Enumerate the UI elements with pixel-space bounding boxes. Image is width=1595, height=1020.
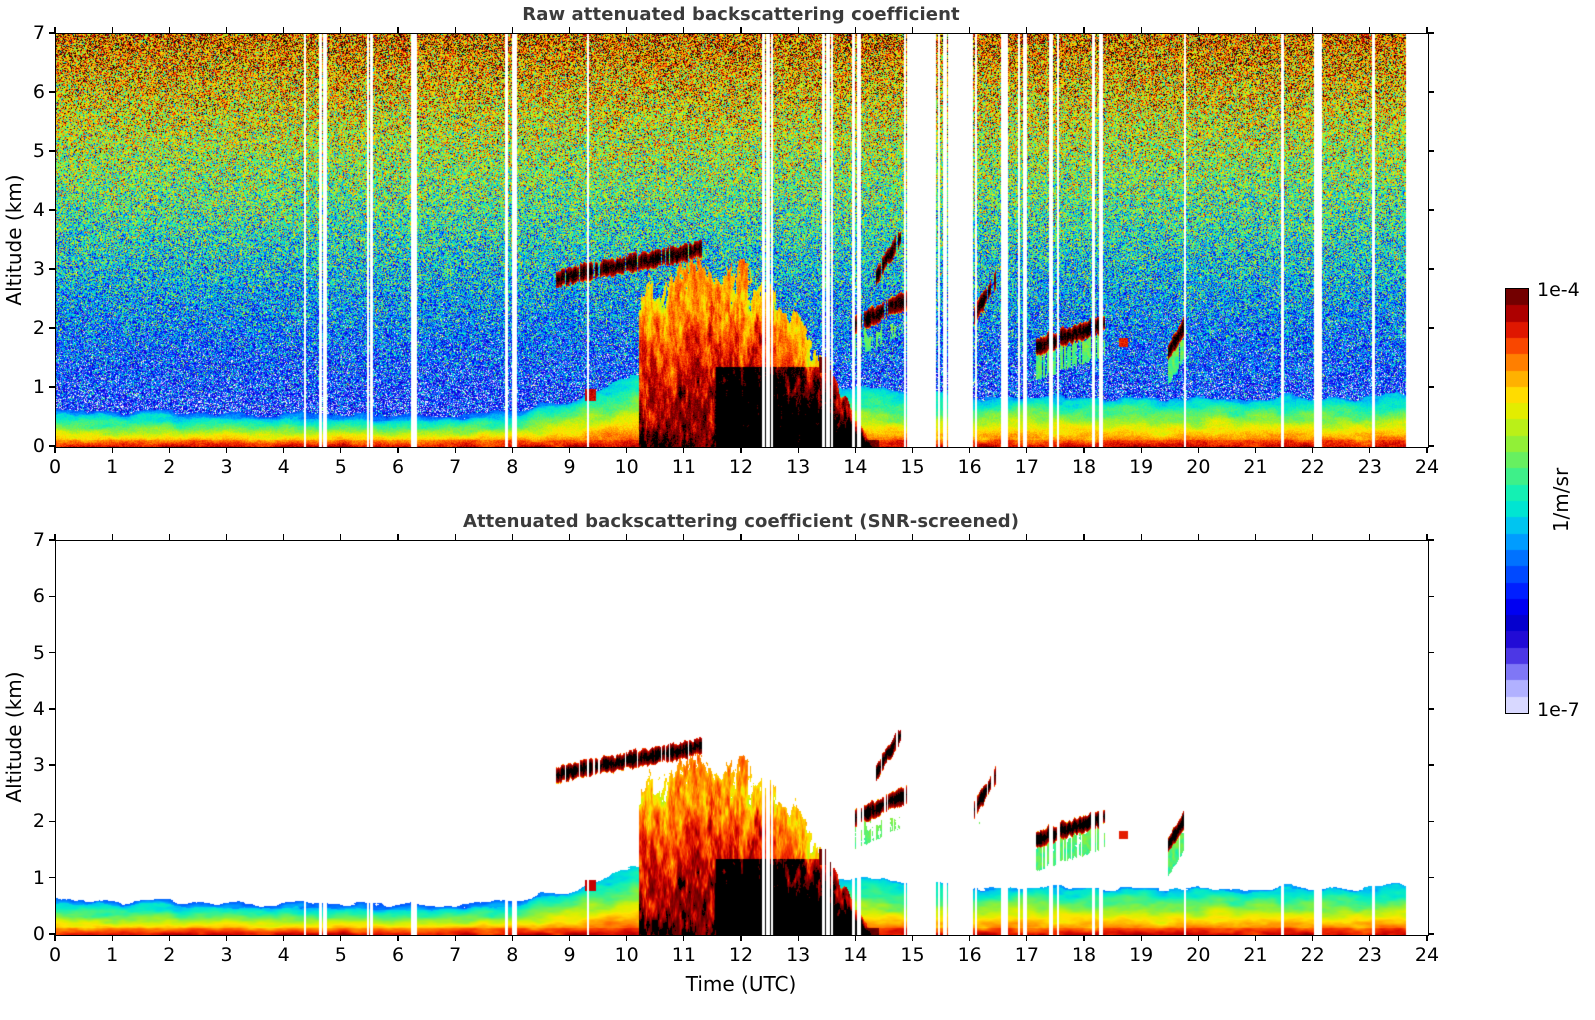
ytick-screened-0 <box>49 933 55 934</box>
xtick-top-screened-16 <box>969 534 970 540</box>
xtick-screened-10 <box>626 935 627 941</box>
xtick-top-screened-7 <box>455 534 456 540</box>
colorbar-min-label: 1e-7 <box>1537 699 1580 721</box>
xticklabel-screened-14: 14 <box>843 944 867 966</box>
ytick-screened-3 <box>49 764 55 765</box>
xticklabel-raw-15: 15 <box>900 456 924 478</box>
xticklabel-raw-8: 8 <box>506 456 518 478</box>
xticklabel-raw-18: 18 <box>1072 456 1096 478</box>
xtick-raw-0 <box>54 447 55 453</box>
xtick-screened-4 <box>283 935 284 941</box>
xtick-top-raw-17 <box>1026 27 1027 33</box>
xticklabel-screened-2: 2 <box>163 944 175 966</box>
xtick-top-screened-20 <box>1198 534 1199 540</box>
colorbar <box>1505 288 1529 714</box>
xticklabel-screened-11: 11 <box>672 944 696 966</box>
xtick-top-raw-4 <box>283 27 284 33</box>
panel-title-raw: Raw attenuated backscattering coefficien… <box>55 4 1427 25</box>
xticklabel-screened-5: 5 <box>335 944 347 966</box>
xtick-screened-17 <box>1026 935 1027 941</box>
xtick-top-raw-7 <box>455 27 456 33</box>
xtick-top-raw-14 <box>855 27 856 33</box>
xticklabel-raw-10: 10 <box>615 456 639 478</box>
xticklabel-raw-2: 2 <box>163 456 175 478</box>
xticklabel-screened-19: 19 <box>1129 944 1153 966</box>
xtick-top-raw-23 <box>1369 27 1370 33</box>
xtick-top-screened-6 <box>397 534 398 540</box>
xtick-screened-23 <box>1369 935 1370 941</box>
xticklabel-raw-7: 7 <box>449 456 461 478</box>
xtick-raw-17 <box>1026 447 1027 453</box>
ytick-screened-1 <box>49 877 55 878</box>
xtick-screened-2 <box>169 935 170 941</box>
xtick-top-screened-11 <box>683 534 684 540</box>
xticklabel-raw-5: 5 <box>335 456 347 478</box>
xtick-top-screened-21 <box>1255 534 1256 540</box>
yticklabel-raw-1: 1 <box>15 376 45 398</box>
xticklabel-screened-0: 0 <box>49 944 61 966</box>
xtick-raw-8 <box>512 447 513 453</box>
ytick-raw-1 <box>49 386 55 387</box>
colorbar-unit-label: 1/m/sr <box>1549 468 1573 532</box>
ytick-screened-6 <box>49 596 55 597</box>
xtick-screened-15 <box>912 935 913 941</box>
ytick-raw-7 <box>49 32 55 33</box>
xticklabel-screened-15: 15 <box>900 944 924 966</box>
xtick-raw-10 <box>626 447 627 453</box>
xtick-screened-11 <box>683 935 684 941</box>
xticklabel-raw-22: 22 <box>1301 456 1325 478</box>
xtick-raw-19 <box>1141 447 1142 453</box>
xtick-top-screened-15 <box>912 534 913 540</box>
xtick-top-raw-13 <box>798 27 799 33</box>
xticklabel-screened-10: 10 <box>615 944 639 966</box>
xticklabel-raw-16: 16 <box>958 456 982 478</box>
xtick-top-screened-19 <box>1141 534 1142 540</box>
yticklabel-screened-0: 0 <box>15 923 45 945</box>
xticklabel-raw-0: 0 <box>49 456 61 478</box>
xtick-raw-22 <box>1312 447 1313 453</box>
xtick-top-raw-21 <box>1255 27 1256 33</box>
xtick-raw-2 <box>169 447 170 453</box>
xtick-raw-20 <box>1198 447 1199 453</box>
xtick-top-screened-2 <box>169 534 170 540</box>
xtick-screened-9 <box>569 935 570 941</box>
xtick-top-raw-1 <box>112 27 113 33</box>
xtick-top-raw-6 <box>397 27 398 33</box>
xtick-raw-9 <box>569 447 570 453</box>
xticklabel-raw-23: 23 <box>1358 456 1382 478</box>
xtick-raw-3 <box>226 447 227 453</box>
xtick-raw-1 <box>112 447 113 453</box>
heatmap-canvas-raw <box>56 34 1428 447</box>
xtick-screened-14 <box>855 935 856 941</box>
xtick-screened-21 <box>1255 935 1256 941</box>
yticklabel-screened-6: 6 <box>15 585 45 607</box>
xtick-top-screened-13 <box>798 534 799 540</box>
xtick-raw-7 <box>455 447 456 453</box>
xtick-raw-12 <box>740 447 741 453</box>
xtick-screened-16 <box>969 935 970 941</box>
xticklabel-screened-22: 22 <box>1301 944 1325 966</box>
ytick-screened-4 <box>49 708 55 709</box>
y-axis-label-screened: Altitude (km) <box>2 671 26 802</box>
xticklabel-raw-9: 9 <box>563 456 575 478</box>
xticklabel-raw-14: 14 <box>843 456 867 478</box>
yticklabel-screened-2: 2 <box>15 810 45 832</box>
xticklabel-screened-7: 7 <box>449 944 461 966</box>
yticklabel-screened-7: 7 <box>15 529 45 551</box>
yticklabel-screened-1: 1 <box>15 867 45 889</box>
xtick-top-screened-10 <box>626 534 627 540</box>
xtick-top-raw-12 <box>740 27 741 33</box>
xticklabel-screened-9: 9 <box>563 944 575 966</box>
ytick-right-screened-7 <box>1428 539 1434 540</box>
xtick-top-screened-5 <box>340 534 341 540</box>
xtick-top-raw-18 <box>1083 27 1084 33</box>
xtick-top-screened-9 <box>569 534 570 540</box>
ytick-raw-6 <box>49 91 55 92</box>
ytick-raw-2 <box>49 327 55 328</box>
xtick-raw-21 <box>1255 447 1256 453</box>
ytick-raw-4 <box>49 209 55 210</box>
ytick-right-raw-7 <box>1428 32 1434 33</box>
xtick-screened-0 <box>54 935 55 941</box>
yticklabel-screened-5: 5 <box>15 642 45 664</box>
xticklabel-screened-1: 1 <box>106 944 118 966</box>
ytick-raw-5 <box>49 150 55 151</box>
xtick-raw-14 <box>855 447 856 453</box>
xticklabel-screened-17: 17 <box>1015 944 1039 966</box>
xticklabel-raw-6: 6 <box>392 456 404 478</box>
xtick-screened-6 <box>397 935 398 941</box>
xticklabel-raw-11: 11 <box>672 456 696 478</box>
ytick-right-raw-3 <box>1428 268 1434 269</box>
xticklabel-screened-16: 16 <box>958 944 982 966</box>
xticklabel-raw-13: 13 <box>786 456 810 478</box>
ytick-screened-7 <box>49 539 55 540</box>
ytick-screened-2 <box>49 821 55 822</box>
xticklabel-raw-19: 19 <box>1129 456 1153 478</box>
xtick-top-raw-8 <box>512 27 513 33</box>
xticklabel-screened-21: 21 <box>1243 944 1267 966</box>
xtick-raw-4 <box>283 447 284 453</box>
xticklabel-screened-24: 24 <box>1415 944 1439 966</box>
heatmap-canvas-screened <box>56 541 1428 935</box>
xtick-raw-6 <box>397 447 398 453</box>
xtick-raw-24 <box>1426 447 1427 453</box>
xticklabel-screened-20: 20 <box>1186 944 1210 966</box>
ytick-right-raw-6 <box>1428 91 1434 92</box>
xtick-top-screened-3 <box>226 534 227 540</box>
xtick-screened-8 <box>512 935 513 941</box>
xtick-screened-18 <box>1083 935 1084 941</box>
xticklabel-raw-12: 12 <box>729 456 753 478</box>
y-axis-label-raw: Altitude (km) <box>2 174 26 305</box>
ytick-right-screened-5 <box>1428 652 1434 653</box>
xticklabel-screened-6: 6 <box>392 944 404 966</box>
xtick-screened-1 <box>112 935 113 941</box>
xtick-screened-19 <box>1141 935 1142 941</box>
xtick-screened-13 <box>798 935 799 941</box>
xticklabel-screened-23: 23 <box>1358 944 1382 966</box>
ytick-right-screened-4 <box>1428 708 1434 709</box>
xtick-top-screened-8 <box>512 534 513 540</box>
xtick-top-screened-18 <box>1083 534 1084 540</box>
yticklabel-raw-0: 0 <box>15 435 45 457</box>
xticklabel-screened-3: 3 <box>220 944 232 966</box>
xticklabel-raw-17: 17 <box>1015 456 1039 478</box>
ytick-right-raw-0 <box>1428 445 1434 446</box>
xticklabel-screened-18: 18 <box>1072 944 1096 966</box>
xtick-raw-5 <box>340 447 341 453</box>
xtick-top-raw-9 <box>569 27 570 33</box>
xticklabel-raw-20: 20 <box>1186 456 1210 478</box>
xtick-top-raw-2 <box>169 27 170 33</box>
xtick-top-screened-12 <box>740 534 741 540</box>
xticklabel-raw-24: 24 <box>1415 456 1439 478</box>
xtick-raw-23 <box>1369 447 1370 453</box>
xtick-raw-15 <box>912 447 913 453</box>
xticklabel-screened-13: 13 <box>786 944 810 966</box>
ytick-raw-0 <box>49 445 55 446</box>
colorbar-gradient <box>1506 289 1528 713</box>
xticklabel-raw-1: 1 <box>106 456 118 478</box>
xtick-top-screened-4 <box>283 534 284 540</box>
xtick-top-screened-14 <box>855 534 856 540</box>
xtick-screened-22 <box>1312 935 1313 941</box>
ytick-right-screened-2 <box>1428 821 1434 822</box>
xtick-raw-11 <box>683 447 684 453</box>
xtick-raw-13 <box>798 447 799 453</box>
x-axis-label-screened: Time (UTC) <box>686 972 797 996</box>
xtick-screened-12 <box>740 935 741 941</box>
xticklabel-screened-12: 12 <box>729 944 753 966</box>
ytick-right-screened-1 <box>1428 877 1434 878</box>
ytick-right-raw-2 <box>1428 327 1434 328</box>
ytick-right-screened-3 <box>1428 764 1434 765</box>
xtick-top-raw-3 <box>226 27 227 33</box>
xtick-top-raw-11 <box>683 27 684 33</box>
xticklabel-raw-4: 4 <box>278 456 290 478</box>
plot-area-screened <box>55 540 1429 936</box>
xtick-top-raw-15 <box>912 27 913 33</box>
ytick-right-screened-6 <box>1428 596 1434 597</box>
xtick-top-raw-20 <box>1198 27 1199 33</box>
figure-root: Raw attenuated backscattering coefficien… <box>0 0 1595 1020</box>
ytick-screened-5 <box>49 652 55 653</box>
yticklabel-raw-5: 5 <box>15 140 45 162</box>
ytick-right-raw-4 <box>1428 209 1434 210</box>
ytick-raw-3 <box>49 268 55 269</box>
xticklabel-raw-21: 21 <box>1243 456 1267 478</box>
yticklabel-raw-6: 6 <box>15 81 45 103</box>
xtick-top-raw-22 <box>1312 27 1313 33</box>
xtick-top-raw-16 <box>969 27 970 33</box>
xtick-top-screened-22 <box>1312 534 1313 540</box>
xtick-top-raw-10 <box>626 27 627 33</box>
xtick-top-screened-1 <box>112 534 113 540</box>
ytick-right-raw-1 <box>1428 386 1434 387</box>
ytick-right-screened-0 <box>1428 933 1434 934</box>
xtick-top-raw-19 <box>1141 27 1142 33</box>
xtick-screened-7 <box>455 935 456 941</box>
xtick-top-screened-23 <box>1369 534 1370 540</box>
plot-area-raw <box>55 33 1429 448</box>
xtick-raw-18 <box>1083 447 1084 453</box>
xtick-screened-20 <box>1198 935 1199 941</box>
colorbar-max-label: 1e-4 <box>1537 279 1580 301</box>
xtick-top-screened-17 <box>1026 534 1027 540</box>
yticklabel-raw-7: 7 <box>15 22 45 44</box>
xtick-screened-3 <box>226 935 227 941</box>
xtick-screened-24 <box>1426 935 1427 941</box>
yticklabel-raw-2: 2 <box>15 317 45 339</box>
xticklabel-raw-3: 3 <box>220 456 232 478</box>
xticklabel-screened-8: 8 <box>506 944 518 966</box>
xtick-raw-16 <box>969 447 970 453</box>
xtick-top-raw-5 <box>340 27 341 33</box>
xticklabel-screened-4: 4 <box>278 944 290 966</box>
xtick-screened-5 <box>340 935 341 941</box>
panel-title-screened: Attenuated backscattering coefficient (S… <box>55 511 1427 532</box>
ytick-right-raw-5 <box>1428 150 1434 151</box>
